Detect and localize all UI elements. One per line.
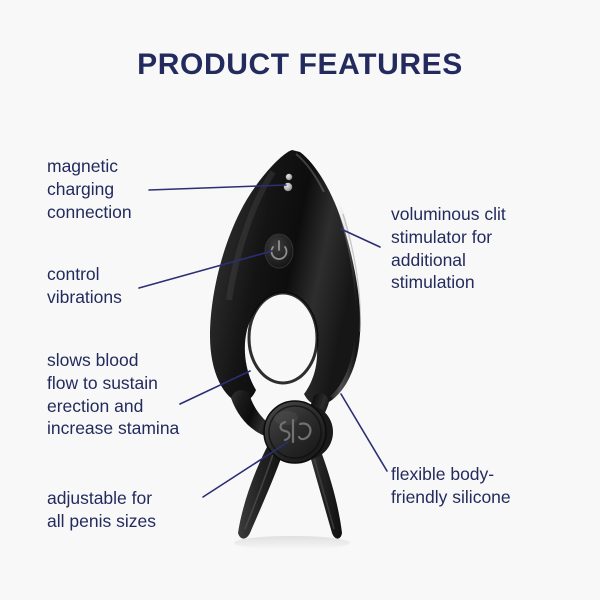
callout-adjustable-sizes: adjustable for all penis sizes: [47, 487, 227, 533]
product-features-infographic: PRODUCT FEATURES: [0, 0, 600, 600]
callout-flexible-silicone: flexible body- friendly silicone: [391, 463, 576, 509]
callout-control-vibrations: control vibrations: [47, 263, 197, 309]
leader-flexible: [341, 394, 387, 471]
callout-voluminous-clit-stimulator: voluminous clit stimulator for additiona…: [391, 203, 571, 294]
leader-voluminous: [341, 229, 380, 247]
callout-magnetic-charging-connection: magnetic charging connection: [47, 155, 217, 223]
callout-slows-blood-flow: slows blood flow to sustain erection and…: [47, 349, 237, 440]
